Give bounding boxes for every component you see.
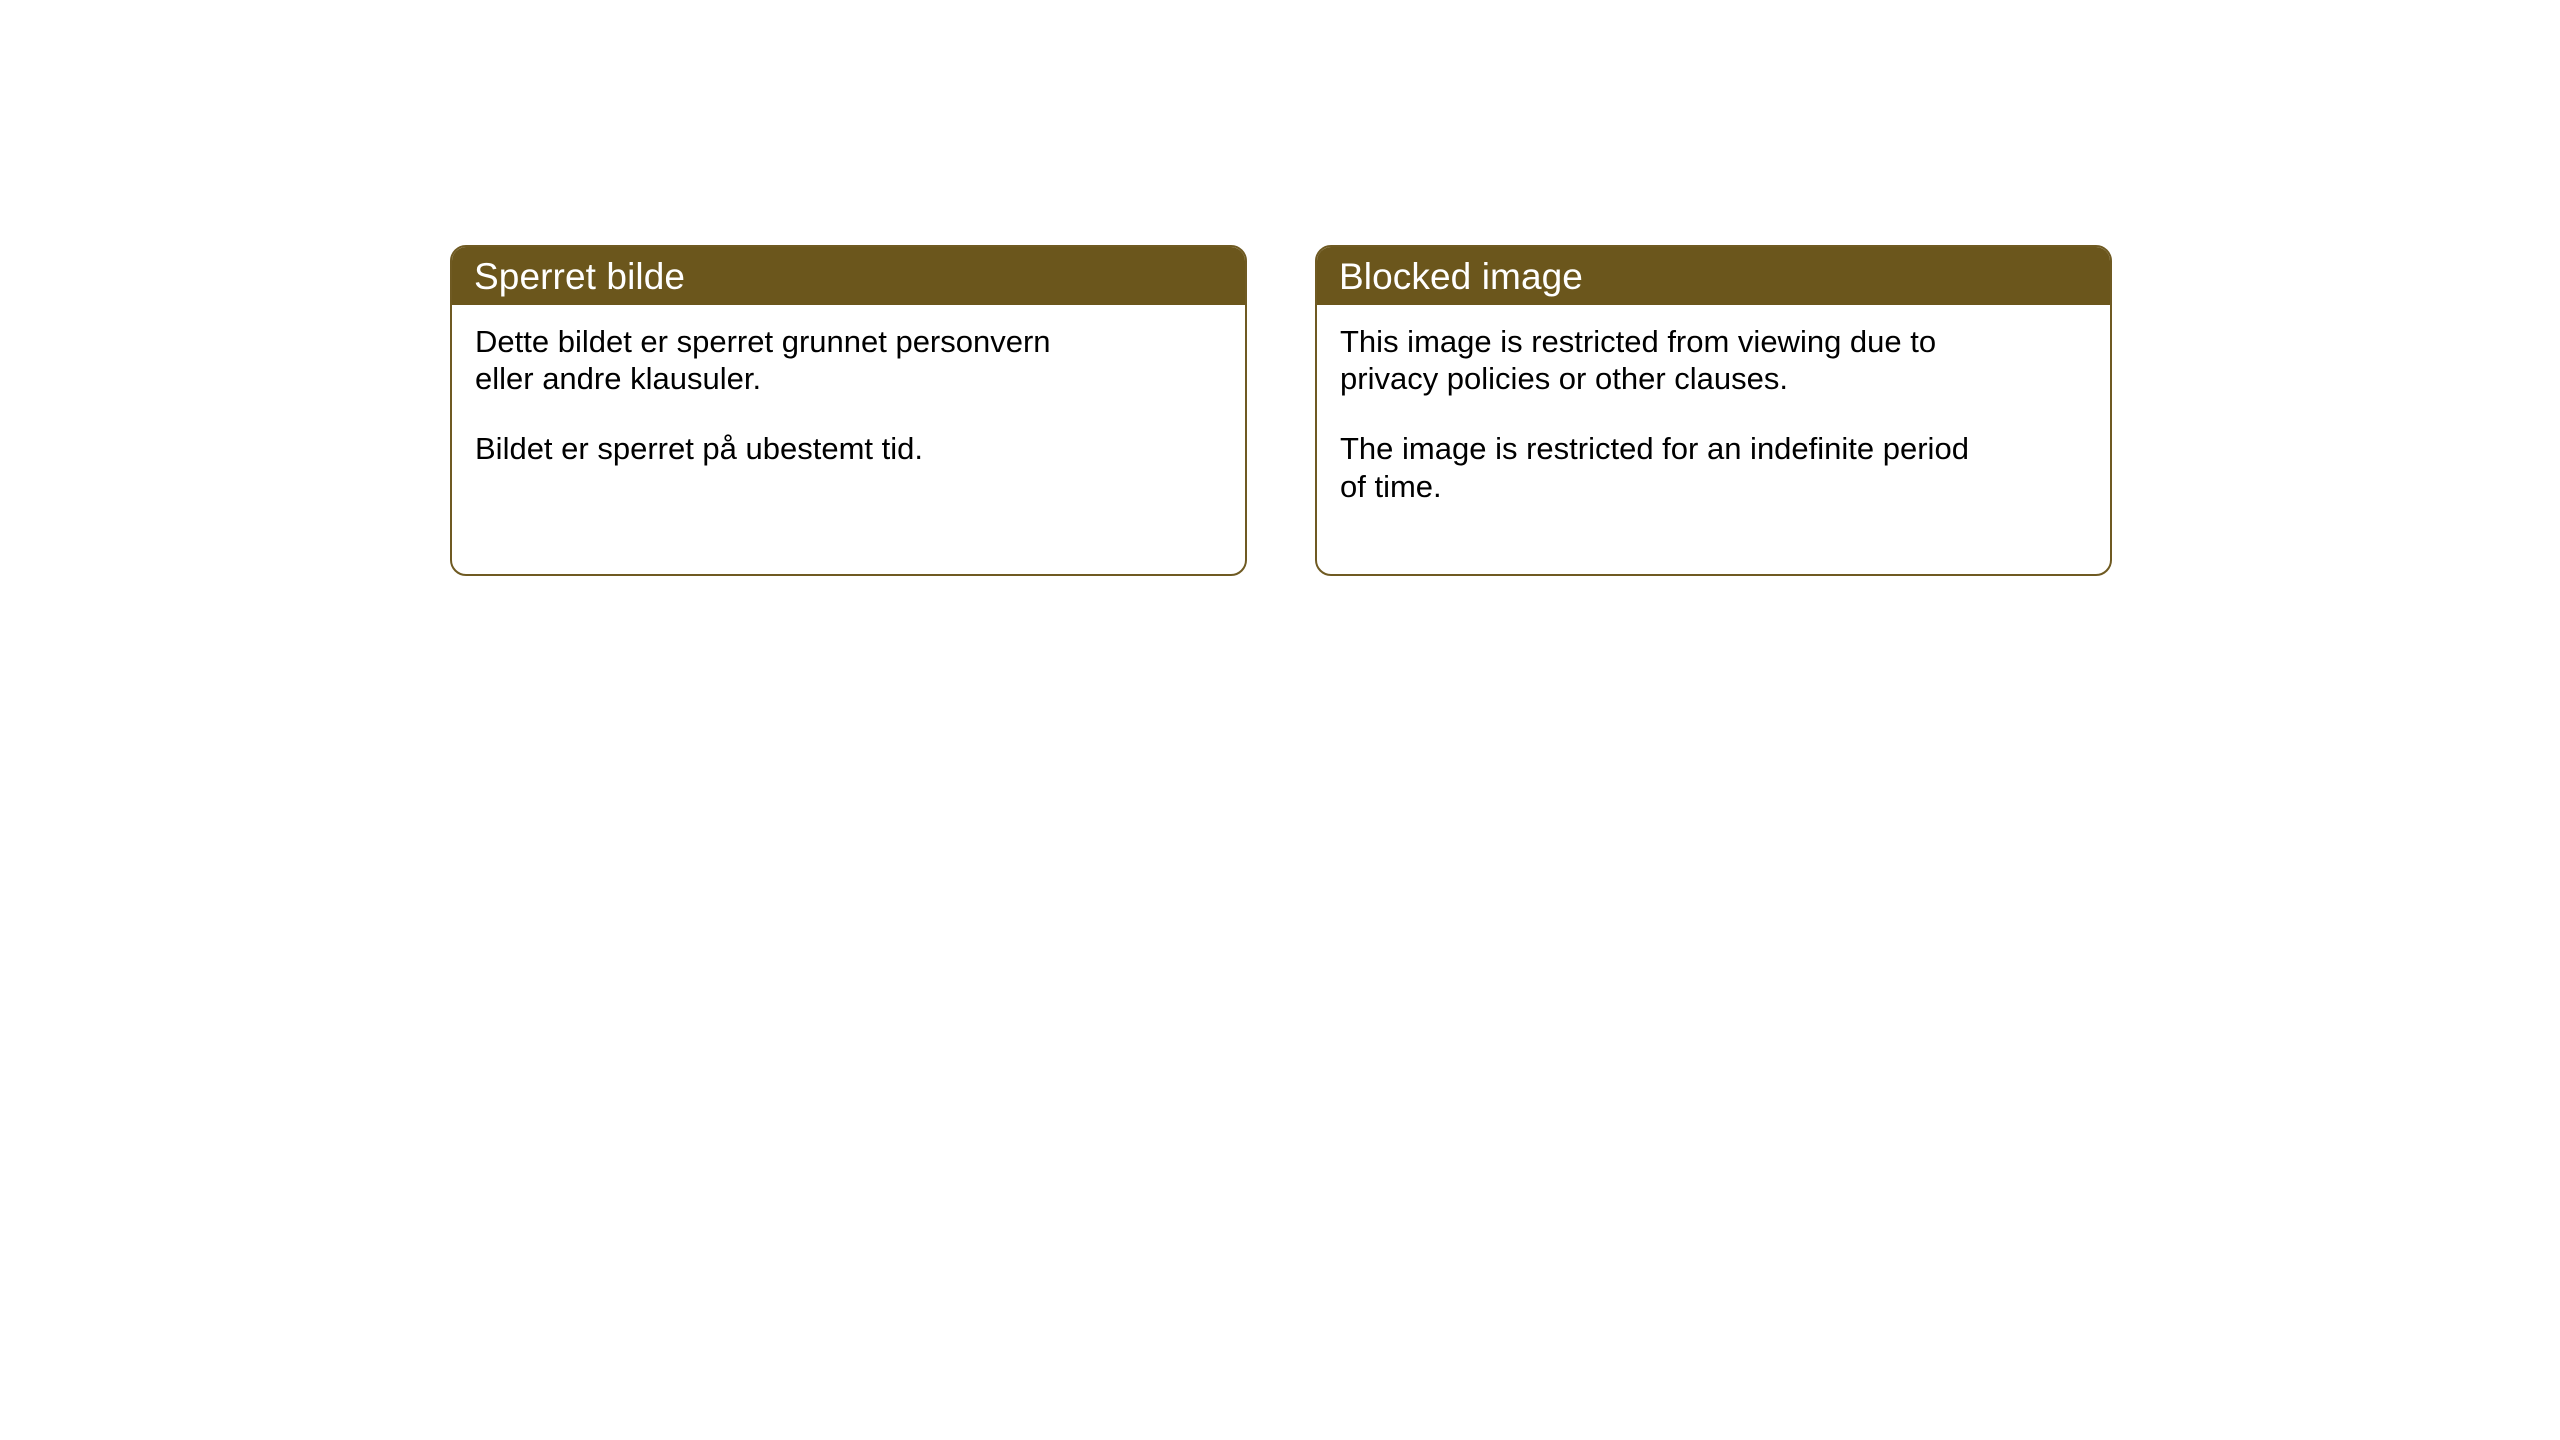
card-paragraph-primary-en: This image is restricted from viewing du… [1340,323,2084,397]
card-title-en: Blocked image [1339,258,1583,295]
card-paragraph-secondary-en: The image is restricted for an indefinit… [1340,430,2084,504]
card-header-en: Blocked image [1317,247,2110,305]
paragraph-spacer-no [475,397,1219,430]
card-body-no: Dette bildet er sperret grunnet personve… [452,305,1245,468]
card-title-no: Sperret bilde [474,258,685,295]
card-header-no: Sperret bilde [452,247,1245,305]
card-paragraph-secondary-no: Bildet er sperret på ubestemt tid. [475,430,1219,467]
blocked-image-notice-card-en: Blocked image This image is restricted f… [1315,245,2112,576]
page-root: Sperret bilde Dette bildet er sperret gr… [0,0,2560,1440]
card-paragraph-primary-no: Dette bildet er sperret grunnet personve… [475,323,1219,397]
blocked-image-notice-card-no: Sperret bilde Dette bildet er sperret gr… [450,245,1247,576]
card-body-en: This image is restricted from viewing du… [1317,305,2110,505]
paragraph-spacer-en [1340,397,2084,430]
